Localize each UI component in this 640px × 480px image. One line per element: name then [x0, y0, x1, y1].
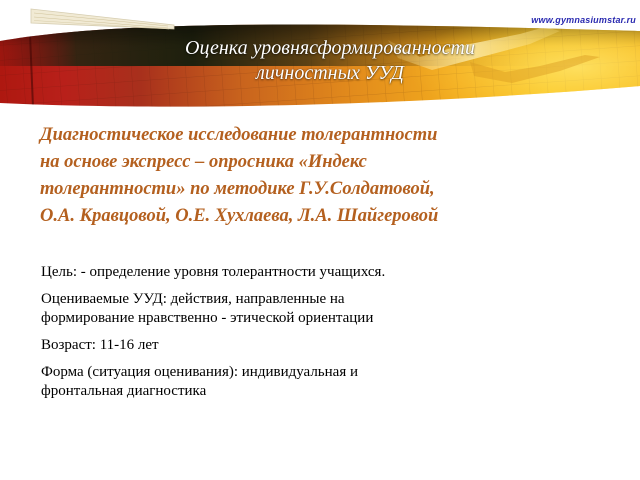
paragraph-form: Форма (ситуация оценивания): индивидуаль…: [41, 363, 601, 401]
slide-title: Оценка уровнясформированности личностных…: [120, 36, 540, 86]
paragraph-age: Возраст: 11-16 лет: [41, 336, 601, 355]
headline-text: Диагностическое исследование толерантнос…: [40, 122, 618, 230]
header-banner: www.gymnasiumstar.ru Оценка уровнясформи…: [0, 0, 640, 115]
presentation-slide: www.gymnasiumstar.ru Оценка уровнясформи…: [0, 0, 640, 480]
site-url-label: www.gymnasiumstar.ru: [460, 15, 636, 25]
paragraph-goal: Цель: - определение уровня толерантности…: [41, 263, 601, 282]
paragraph-assessed-uud: Оцениваемые УУД: действия, направленные …: [41, 290, 601, 328]
banner-wedge-icon: [28, 4, 188, 30]
body-text-block: Цель: - определение уровня толерантности…: [41, 263, 601, 401]
